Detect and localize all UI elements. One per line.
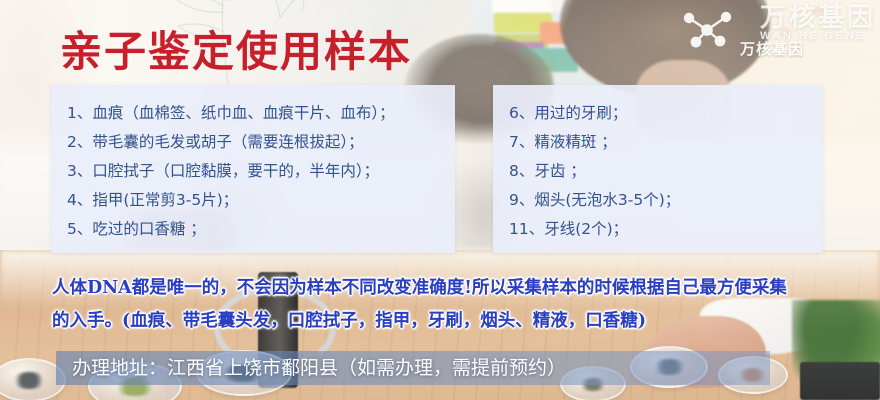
molecule-logo-icon	[682, 8, 734, 58]
list-item: 8、牙齿 ；	[509, 157, 823, 186]
sample-list-right-panel: 6、用过的牙刷； 7、精液精斑 ； 8、牙齿 ； 9、烟头(无泡水3-5个)； …	[493, 85, 823, 253]
brand-watermark-large: 万核基因 WAN HE GENE	[760, 4, 876, 43]
list-item: 1、血痕（血棉签、纸巾血、血痕干片、血布）；	[67, 99, 455, 128]
list-item: 3、口腔拭子（口腔黏膜，要干的，半年内）；	[67, 157, 455, 186]
note-line-1: 人体DNA都是唯一的，不会因为样本不同改变准确度!所以采集样本的时候根据自己最方…	[52, 272, 852, 305]
brand-watermark-cn: 万核基因	[760, 2, 876, 32]
note-paragraph: 人体DNA都是唯一的，不会因为样本不同改变准确度!所以采集样本的时候根据自己最方…	[52, 272, 852, 338]
note-line-2: 的入手。(血痕、带毛囊头发，口腔拭子，指甲，牙刷，烟头、精液，口香糖)	[52, 305, 852, 338]
sample-list-left-panel: 1、血痕（血棉签、纸巾血、血痕干片、血布）； 2、带毛囊的毛发或胡子（需要连根拔…	[51, 85, 455, 253]
list-item: 11、牙线(2个)；	[509, 215, 823, 244]
list-item: 6、用过的牙刷；	[509, 99, 823, 128]
list-item: 4、指甲(正常剪3-5片)；	[67, 186, 455, 215]
page-title: 亲子鉴定使用样本	[60, 18, 412, 79]
list-item: 7、精液精斑 ；	[509, 128, 823, 157]
brand-watermark-en: WAN HE GENE	[760, 31, 876, 43]
sample-list-right: 6、用过的牙刷； 7、精液精斑 ； 8、牙齿 ； 9、烟头(无泡水3-5个)； …	[493, 85, 823, 244]
sample-list-left: 1、血痕（血棉签、纸巾血、血痕干片、血布）； 2、带毛囊的毛发或胡子（需要连根拔…	[51, 85, 455, 244]
list-item: 2、带毛囊的毛发或胡子（需要连根拔起）；	[67, 128, 455, 157]
list-item: 9、烟头(无泡水3-5个)；	[509, 186, 823, 215]
list-item: 5、吃过的口香糖 ；	[67, 215, 455, 244]
poster-canvas: 万核基因 WAN HE GENE 万核基因 WAN HE GENE 万核基因 W…	[0, 0, 880, 400]
address-text: 办理地址：江西省上饶市鄱阳县（如需办理，需提前预约）	[72, 352, 566, 385]
